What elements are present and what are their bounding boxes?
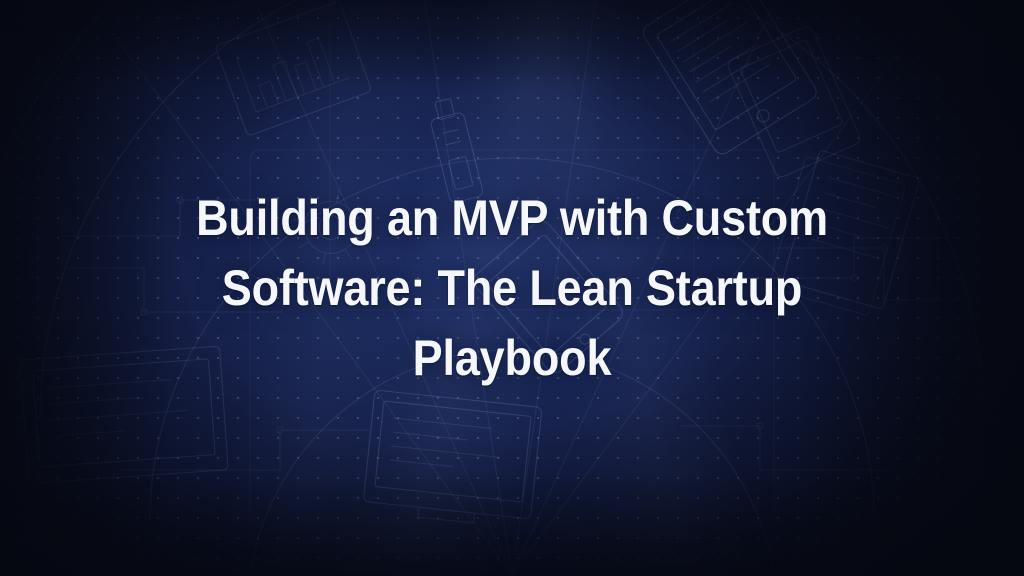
slide-content: Building an MVP with Custom Software: Th… — [0, 0, 1024, 576]
title-line-1: Building an MVP with Custom — [196, 190, 828, 246]
title-line-2: Software: The Lean Startup — [222, 260, 802, 316]
title-slide: Building an MVP with Custom Software: Th… — [0, 0, 1024, 576]
title-line-3: Playbook — [413, 330, 612, 386]
page-title: Building an MVP with Custom Software: Th… — [188, 183, 836, 393]
